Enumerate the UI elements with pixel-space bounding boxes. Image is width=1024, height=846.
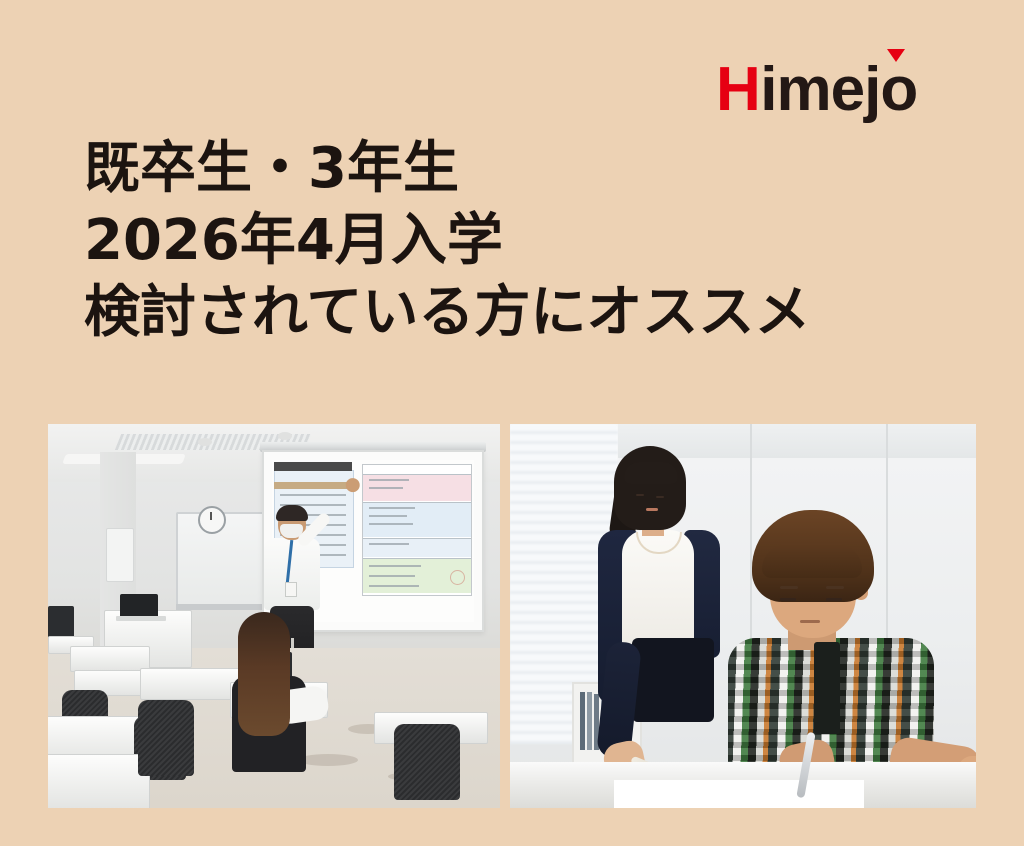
slide-divider (363, 558, 471, 559)
advisor-skirt (632, 638, 714, 722)
student-eyebrow (826, 586, 844, 589)
advisor-fringe (624, 462, 678, 484)
slide-divider (363, 538, 471, 539)
paper-document (614, 780, 864, 808)
wall-panel (106, 528, 134, 582)
classroom-chair (138, 700, 194, 776)
computer-desk (70, 646, 150, 672)
seated-student-figure (228, 612, 324, 772)
ceiling-speaker (198, 438, 212, 446)
shelf-file (587, 692, 592, 750)
headline-line-3: 検討されている方にオススメ (84, 277, 954, 349)
headline-line-1: 既卒生・3年生 (84, 133, 954, 205)
slide-text-line (369, 487, 403, 489)
advisor-eye (656, 496, 664, 498)
computer-desk (48, 754, 150, 808)
slide-text-line (369, 585, 419, 587)
himejo-logo[interactable]: H imejo (716, 58, 917, 120)
slide-text-line (280, 494, 346, 496)
student-eye (780, 598, 796, 601)
slide-text-line (369, 523, 413, 525)
student-fringe (762, 544, 862, 578)
ceiling-speaker (278, 432, 292, 440)
advisor-hair (614, 446, 686, 530)
student-shirt-placket (814, 642, 840, 734)
podium-laptop-base (116, 616, 166, 621)
shelf-file (580, 692, 585, 750)
slide-divider (363, 502, 471, 503)
slide-divider (363, 474, 471, 475)
instructor-id-badge (285, 582, 297, 597)
slide-text-line (369, 515, 407, 517)
slide-title-bar (274, 462, 352, 471)
headline-line-2: 2026年4月入学 (84, 205, 954, 277)
slide-text-line (369, 565, 421, 567)
classroom-lecture-photo (48, 424, 500, 808)
computer-monitor (48, 606, 74, 638)
advisor-student-photo (510, 424, 976, 808)
red-triangle-icon (887, 49, 905, 62)
headline: 既卒生・3年生 2026年4月入学 検討されている方にオススメ (84, 133, 954, 349)
slide-text-line (369, 479, 409, 481)
slide-seal-stamp (450, 570, 465, 585)
logo-rest-text: imejo (760, 55, 917, 124)
wall-clock-icon (198, 506, 226, 534)
slide-row (363, 539, 471, 557)
logo-initial: H (716, 61, 760, 120)
student-eyebrow (780, 586, 798, 589)
instructor-hair (276, 505, 308, 521)
student-eye (826, 598, 842, 601)
slide-text-line (369, 507, 415, 509)
slide-text-line (369, 575, 415, 577)
advisor-eye (636, 494, 644, 496)
advisor-mouth (646, 508, 658, 511)
student-hair (238, 612, 290, 736)
photo-strip (48, 424, 976, 808)
student-mouth (800, 620, 820, 623)
logo-wordmark: imejo (760, 61, 917, 120)
promo-banner: H imejo 既卒生・3年生 2026年4月入学 検討されている方にオススメ (0, 0, 1024, 846)
slide-text-line (369, 543, 409, 545)
podium-laptop-screen (120, 594, 158, 618)
classroom-chair (394, 724, 460, 800)
slide-subtitle-bar (274, 482, 352, 489)
slide-right-table (362, 464, 472, 596)
